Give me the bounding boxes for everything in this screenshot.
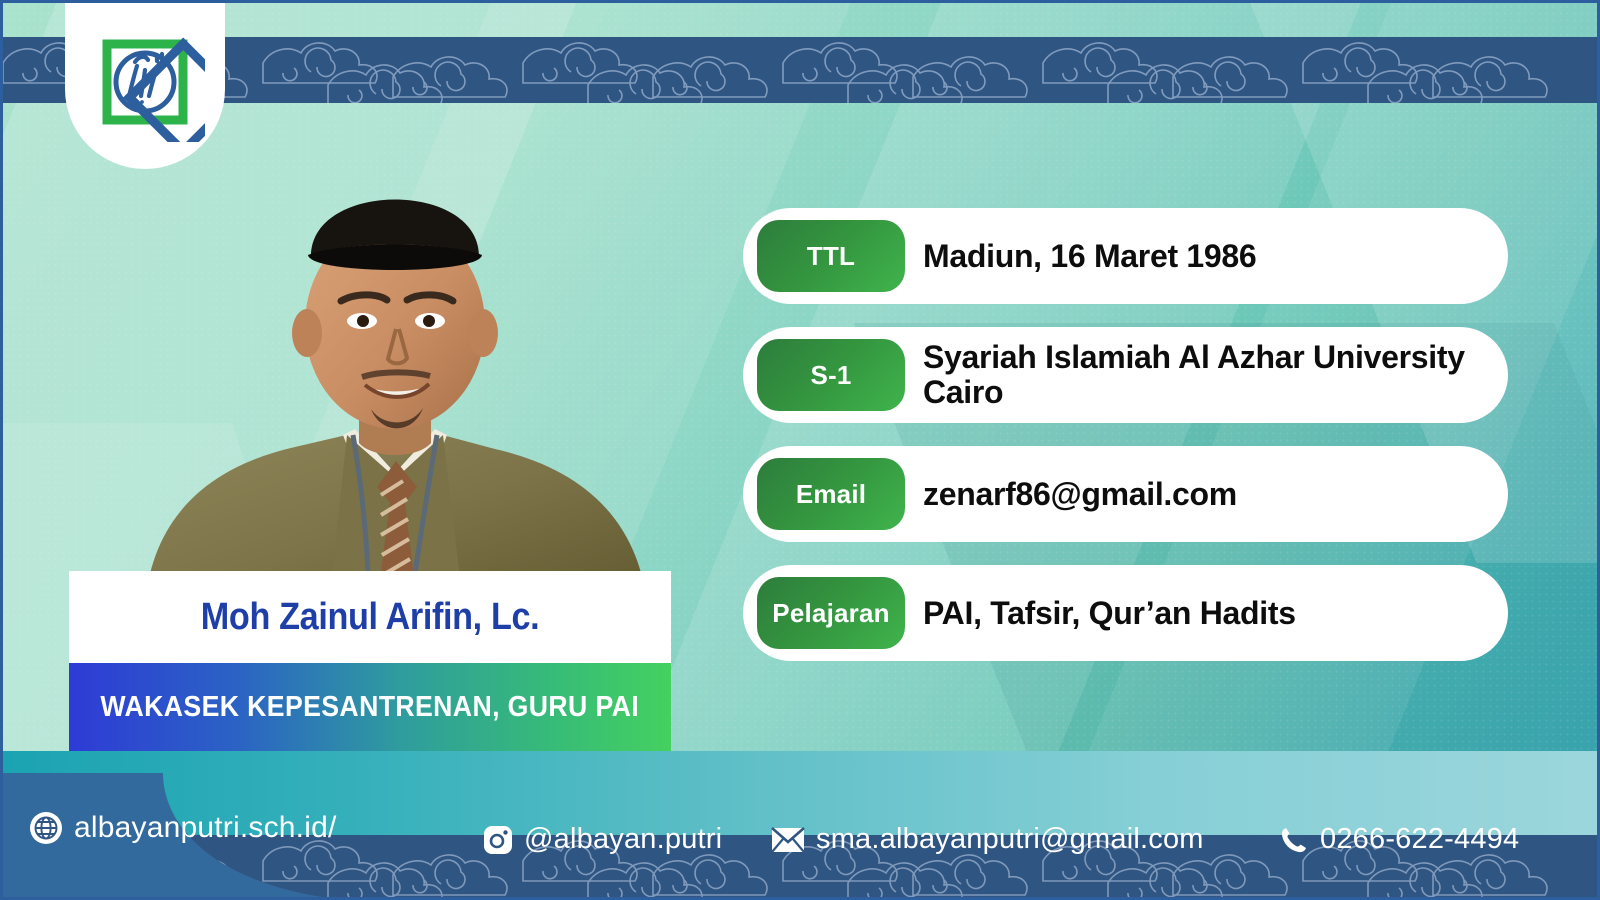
nameplate: Moh Zainul Arifin, Lc. WAKASEK KEPESANTR… — [69, 571, 671, 751]
albayan-star-logo-icon — [85, 22, 205, 142]
envelope-icon — [771, 827, 805, 853]
info-pill-label: Email — [796, 479, 866, 510]
info-value-s1: Syariah Islamiah Al Azhar University Cai… — [923, 340, 1490, 409]
page-title: Moh Zainul Arifin, Lc. — [201, 596, 539, 639]
footer-phone-text: 0266-622-4494 — [1320, 823, 1519, 856]
info-pill-label: Pelajaran — [772, 598, 889, 629]
profile-card: Moh Zainul Arifin, Lc. WAKASEK KEPESANTR… — [0, 0, 1600, 900]
role-bar: WAKASEK KEPESANTRENAN, GURU PAI — [69, 663, 671, 751]
top-cloud-band — [3, 37, 1597, 103]
phone-icon — [1279, 825, 1309, 855]
info-value-pelajaran: PAI, Tafsir, Qur’an Hadits — [923, 596, 1306, 631]
footer-email[interactable]: sma.albayanputri@gmail.com — [771, 823, 1204, 856]
info-pill-label: S-1 — [810, 360, 851, 391]
footer-email-text: sma.albayanputri@gmail.com — [816, 823, 1204, 856]
info-card-ttl: TTL Madiun, 16 Maret 1986 — [743, 208, 1508, 304]
globe-icon — [29, 811, 63, 845]
footer-instagram-text: @albayan.putri — [524, 823, 722, 856]
footer-website[interactable]: albayanputri.sch.id/ — [29, 811, 337, 845]
role-label: WAKASEK KEPESANTRENAN, GURU PAI — [101, 691, 640, 724]
info-value-email: zenarf86@gmail.com — [923, 477, 1247, 512]
info-card-pelajaran: Pelajaran PAI, Tafsir, Qur’an Hadits — [743, 565, 1508, 661]
info-pill-s1: S-1 — [757, 339, 905, 411]
info-pill-pelajaran: Pelajaran — [757, 577, 905, 649]
info-pill-email: Email — [757, 458, 905, 530]
info-value-ttl: Madiun, 16 Maret 1986 — [923, 239, 1266, 274]
mega-mendung-cloud-pattern-icon — [3, 37, 1597, 103]
footer-website-text: albayanputri.sch.id/ — [74, 811, 337, 845]
info-pill-ttl: TTL — [757, 220, 905, 292]
footer-phone[interactable]: 0266-622-4494 — [1279, 823, 1519, 856]
footer-instagram[interactable]: @albayan.putri — [483, 823, 722, 856]
info-pill-label: TTL — [807, 241, 855, 272]
instagram-icon — [483, 825, 513, 855]
info-card-email: Email zenarf86@gmail.com — [743, 446, 1508, 542]
info-card-list: TTL Madiun, 16 Maret 1986 S-1 Syariah Is… — [743, 208, 1508, 684]
info-card-s1: S-1 Syariah Islamiah Al Azhar University… — [743, 327, 1508, 423]
name-bar: Moh Zainul Arifin, Lc. — [69, 571, 671, 663]
